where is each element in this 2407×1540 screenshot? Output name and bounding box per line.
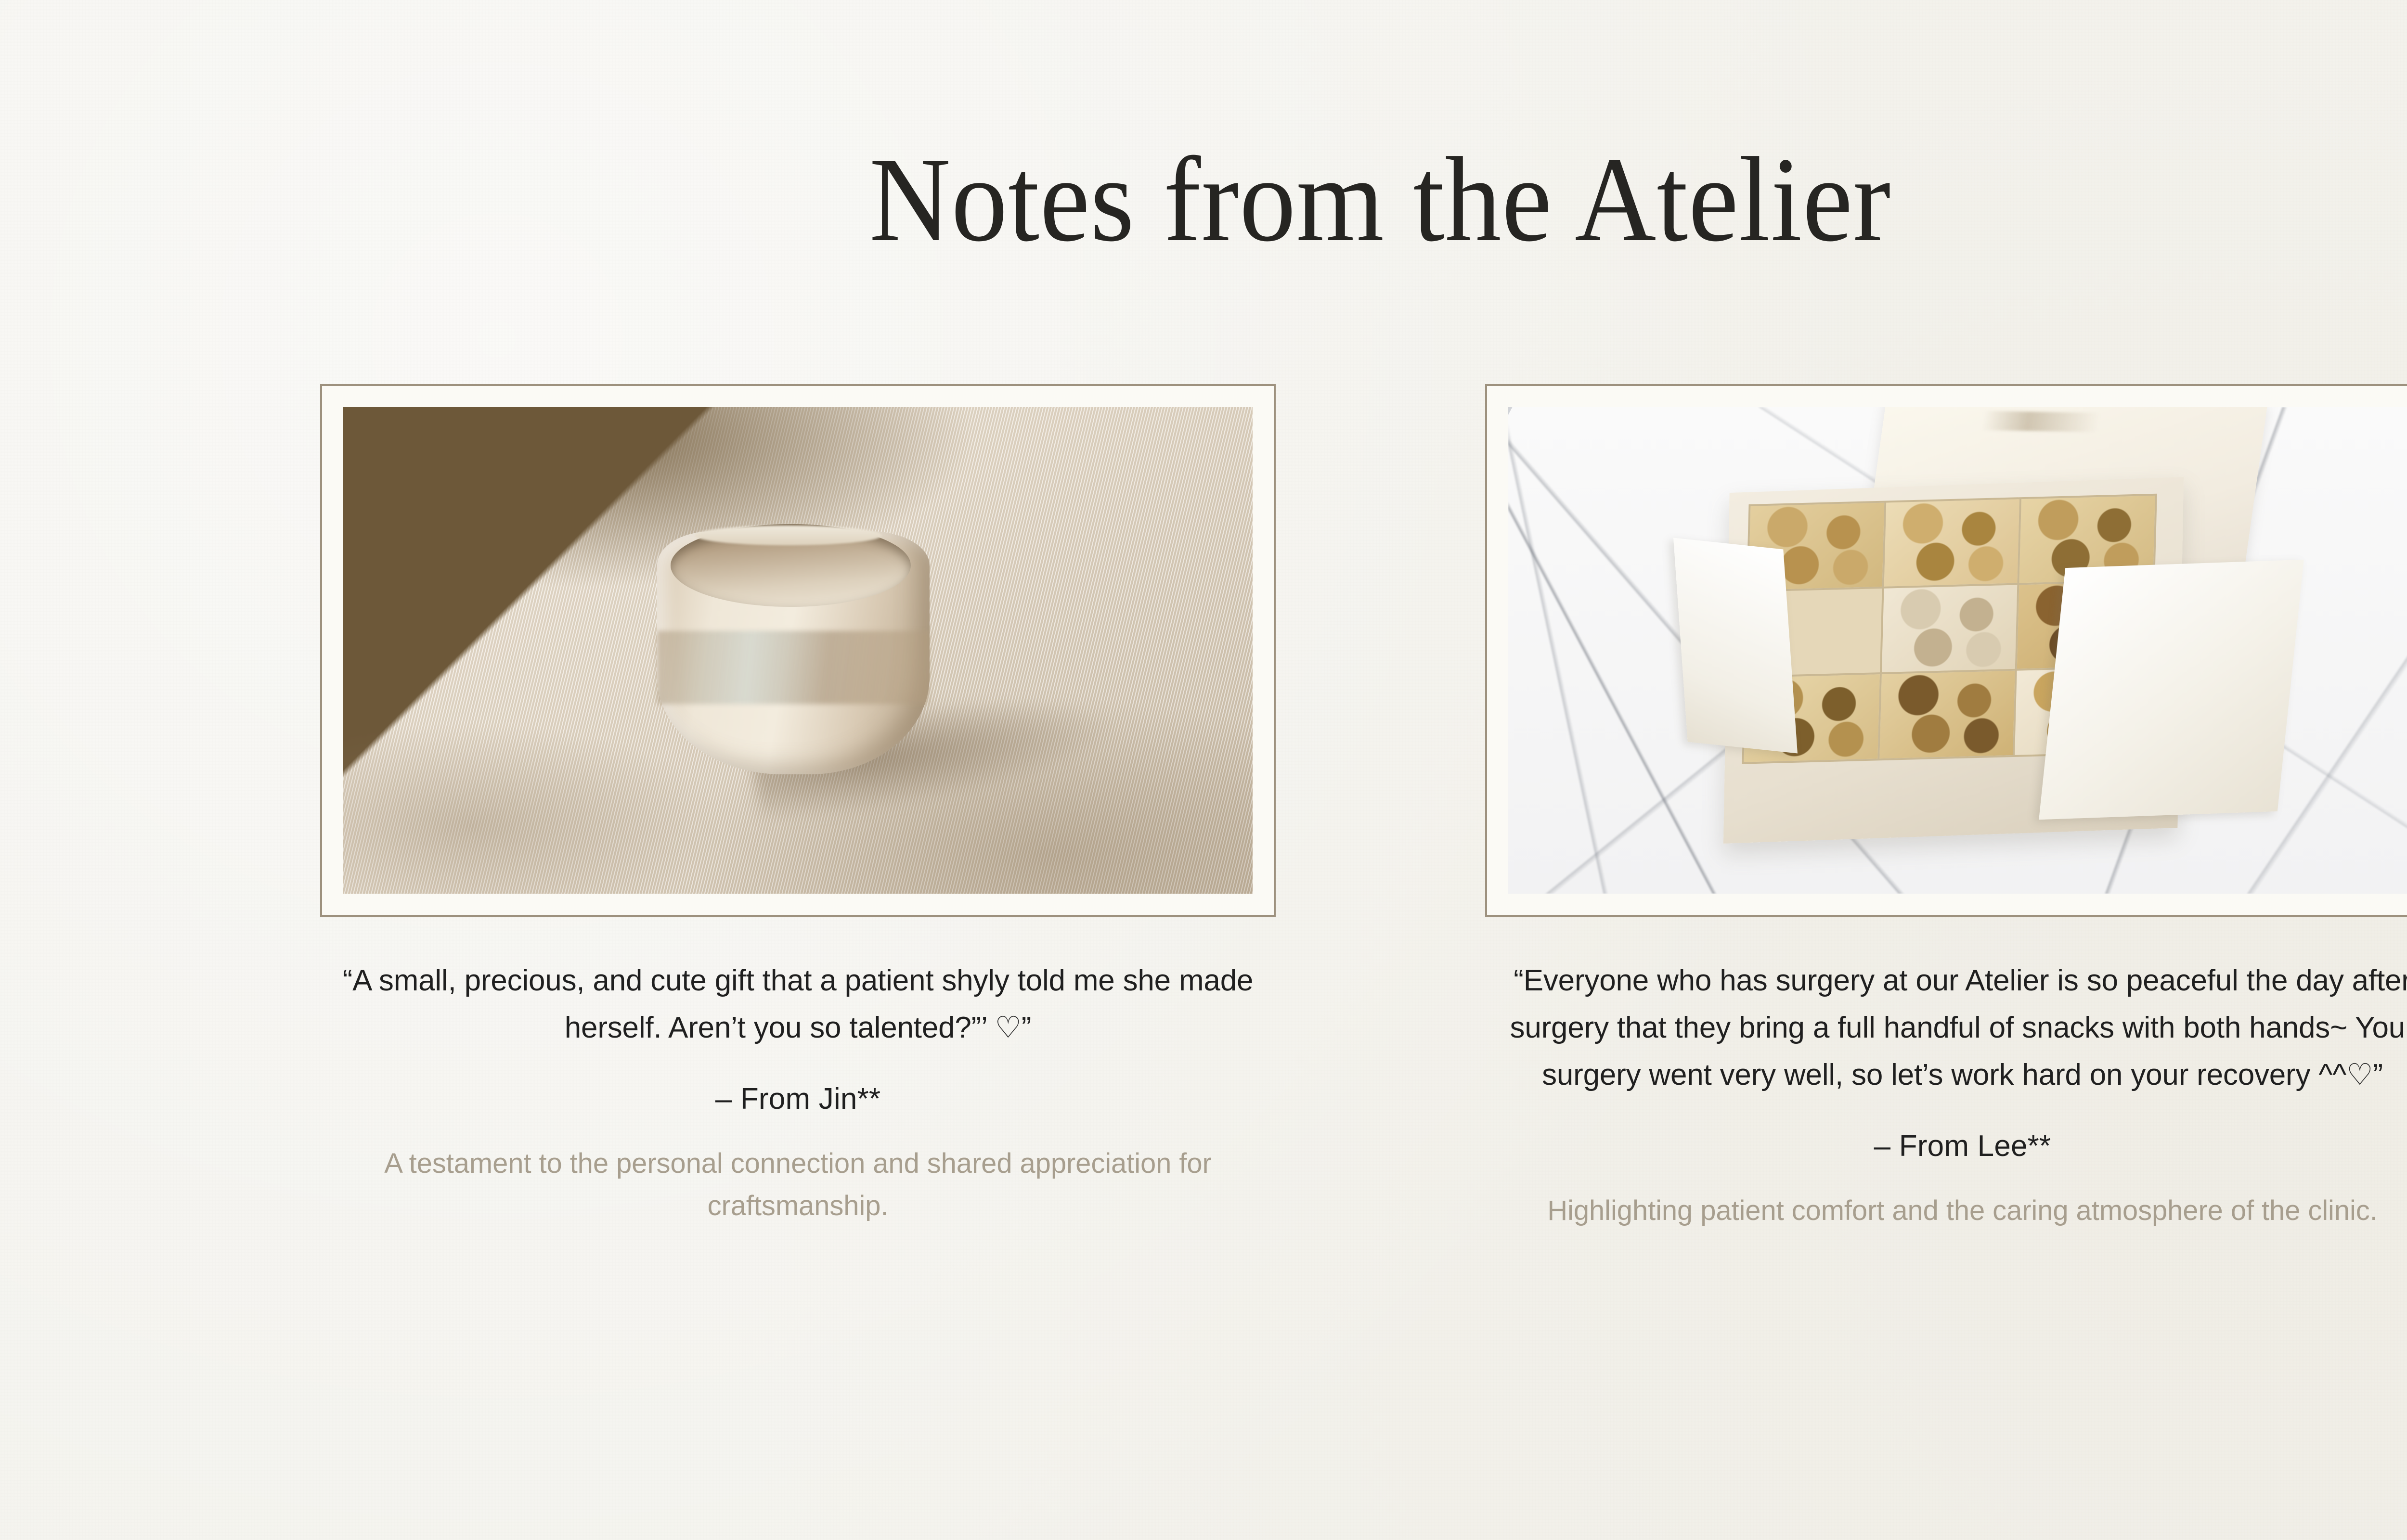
gift-box-paper-flap-left bbox=[1673, 538, 1798, 754]
quote-attribution: – From Jin** bbox=[320, 1078, 1276, 1120]
cup-rim-lip bbox=[695, 526, 882, 545]
cookie-gift-box-photo bbox=[1508, 407, 2407, 894]
quote-text: “Everyone who has surgery at our Atelier… bbox=[1485, 957, 2407, 1099]
quote-caption: Highlighting patient comfort and the car… bbox=[1485, 1190, 2407, 1232]
ceramic-cup bbox=[657, 531, 930, 775]
testimonial-card: “Everyone who has surgery at our Atelier… bbox=[1485, 384, 2407, 1232]
cup-rim bbox=[671, 524, 911, 607]
gift-box-lid-embossing bbox=[1981, 411, 2113, 433]
testimonial-card: “A small, precious, and cute gift that a… bbox=[320, 384, 1276, 1227]
quote-caption: A testament to the personal connection a… bbox=[320, 1142, 1276, 1227]
handmade-ceramic-cup-photo bbox=[343, 407, 1253, 894]
testimonials-page: Notes from the Atelier bbox=[0, 0, 2407, 1540]
photo-frame bbox=[1485, 384, 2407, 917]
photo-frame bbox=[320, 384, 1276, 917]
cookie-compartment bbox=[1884, 499, 2019, 587]
cookie-compartment bbox=[1879, 671, 2015, 758]
cup-glaze-band bbox=[657, 631, 930, 704]
testimonial-text: “A small, precious, and cute gift that a… bbox=[320, 957, 1276, 1227]
testimonial-text: “Everyone who has surgery at our Atelier… bbox=[1485, 957, 2407, 1232]
gift-box-paper-flap-right bbox=[2039, 559, 2303, 819]
quote-text: “A small, precious, and cute gift that a… bbox=[320, 957, 1276, 1052]
cookie-compartment bbox=[1881, 585, 2017, 673]
page-title: Notes from the Atelier bbox=[97, 139, 2407, 260]
quote-attribution: – From Lee** bbox=[1485, 1126, 2407, 1168]
